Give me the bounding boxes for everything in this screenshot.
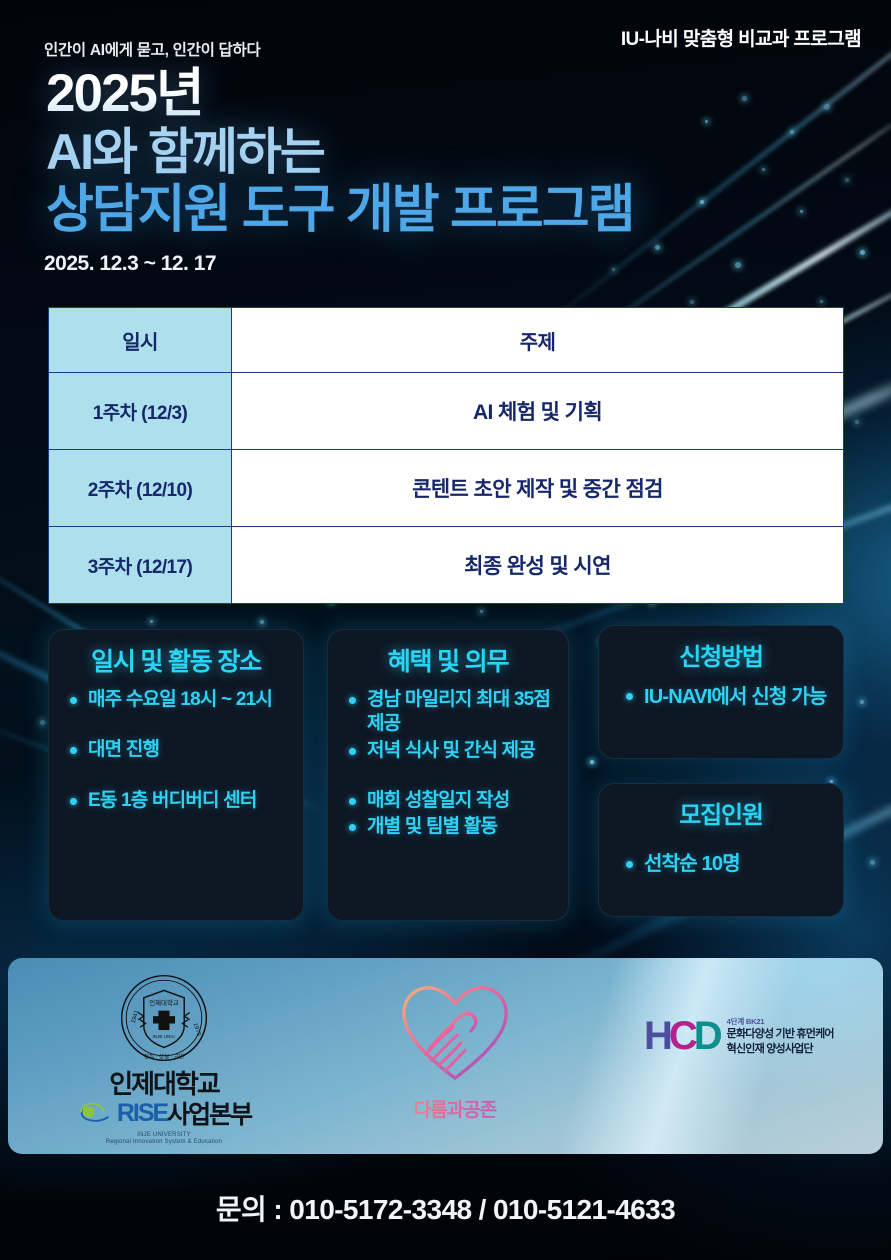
hcd-letter-h: H xyxy=(644,1016,669,1056)
svg-text:1941: 1941 xyxy=(131,1009,141,1024)
table-row: 3주차 (12/17) 최종 완성 및 시연 xyxy=(49,527,844,604)
card-title-benefit: 혜택 및 의무 xyxy=(327,629,569,684)
grise-tail-text: 사업본부 xyxy=(167,1095,251,1131)
svg-text:1979: 1979 xyxy=(192,1022,202,1037)
svg-text:정직 · 성실 · 근면: 정직 · 성실 · 근면 xyxy=(144,1052,184,1060)
cell-topic: 콘텐트 초안 제작 및 중간 점검 xyxy=(232,450,844,527)
heart-handshake-icon xyxy=(396,976,514,1088)
bokeh-dot xyxy=(260,620,264,624)
info-card-place: 일시 및 활동 장소 매주 수요일 18시 ~ 21시 대면 진행 E동 1층 … xyxy=(48,629,304,921)
table-row: 2주차 (12/10) 콘텐트 초안 제작 및 중간 점검 xyxy=(49,450,844,527)
list-item: 매주 수요일 18시 ~ 21시 xyxy=(68,688,290,712)
card-list-place: 매주 수요일 18시 ~ 21시 대면 진행 E동 1층 버디버디 센터 xyxy=(48,684,304,831)
grise-logo: RISE 사업본부 xyxy=(60,1095,268,1131)
list-item: IU-NAVI에서 신청 가능 xyxy=(624,684,832,710)
list-item: 경남 마일리지 최대 35점 제공 xyxy=(347,688,555,737)
sponsor-logo-panel: 인제대학교 INJE UNIV. 1941 1979 정직 · 성실 · 근면 … xyxy=(8,958,883,1154)
list-item: 대면 진행 xyxy=(68,738,290,762)
title-line-two: AI와 함께하는 xyxy=(46,126,861,179)
hcd-letters: H C D xyxy=(644,1016,719,1056)
coexistence-caption: 다름과공존 xyxy=(380,1095,530,1122)
info-cards: 일시 및 활동 장소 매주 수요일 18시 ~ 21시 대면 진행 E동 1층 … xyxy=(0,625,891,925)
page-title: 2025년 AI와 함께하는 상담지원 도구 개발 프로그램 xyxy=(46,66,861,238)
svg-text:INJE UNIV.: INJE UNIV. xyxy=(152,1034,175,1039)
program-category-tag: IU-나비 맞춤형 비교과 프로그램 xyxy=(621,24,861,51)
card-list-quota: 선착순 10명 xyxy=(598,836,844,894)
bokeh-dot xyxy=(820,300,823,303)
list-item: E동 1층 버디버디 센터 xyxy=(68,789,290,813)
cell-when: 3주차 (12/17) xyxy=(49,527,232,604)
cell-topic: 최종 완성 및 시연 xyxy=(232,527,844,604)
card-list-benefit: 경남 마일리지 최대 35점 제공 저녁 식사 및 간식 제공 매회 성찰일지 … xyxy=(327,684,569,852)
hcd-letter-d: D xyxy=(694,1016,719,1056)
logo-row: 인제대학교 INJE UNIV. 1941 1979 정직 · 성실 · 근면 … xyxy=(8,958,883,1154)
contact-info: 문의 : 010-5172-3348 / 010-5121-4633 xyxy=(0,1188,891,1228)
hcd-text-block: 4단계 BK21 문화다양성 기반 휴먼케어 혁신인재 양성사업단 xyxy=(727,1016,834,1057)
column-header-topic: 주제 xyxy=(232,308,844,373)
hcd-bk21-label: 4단계 BK21 xyxy=(727,1016,834,1027)
cell-topic: AI 체험 및 기획 xyxy=(232,373,844,450)
schedule-table: 일시 주제 1주차 (12/3) AI 체험 및 기획 2주차 (12/10) … xyxy=(48,307,844,604)
svg-text:인제대학교: 인제대학교 xyxy=(149,998,179,1007)
card-title-place: 일시 및 활동 장소 xyxy=(48,629,304,684)
inje-eng-bottom: Regional Innovation System & Education xyxy=(60,1139,268,1145)
list-item: 매회 성찰일지 작성 xyxy=(347,789,555,813)
logo-inje-university: 인제대학교 INJE UNIV. 1941 1979 정직 · 성실 · 근면 … xyxy=(60,972,268,1145)
title-line-three: 상담지원 도구 개발 프로그램 xyxy=(46,183,861,238)
card-list-apply: IU-NAVI에서 신청 가능 xyxy=(598,678,844,726)
bokeh-dot xyxy=(690,300,694,304)
grise-rise-text: RISE xyxy=(117,1101,167,1126)
list-item: 개별 및 팀별 활동 xyxy=(347,815,555,839)
inje-eng-top: INJE UNIVERSITY xyxy=(60,1132,268,1138)
grise-swirl-icon xyxy=(77,1100,117,1126)
list-item: 저녁 식사 및 간식 제공 xyxy=(347,739,555,763)
bokeh-dot xyxy=(855,420,859,424)
cell-when: 1주차 (12/3) xyxy=(49,373,232,450)
hcd-letter-c: C xyxy=(669,1016,694,1056)
title-line-year: 2025년 xyxy=(46,66,861,122)
info-card-quota: 모집인원 선착순 10명 xyxy=(598,783,844,917)
info-card-benefit: 혜택 및 의무 경남 마일리지 최대 35점 제공 저녁 식사 및 간식 제공 … xyxy=(327,629,569,921)
inje-name-text: 인제대학교 xyxy=(60,1071,268,1097)
column-header-when: 일시 xyxy=(49,308,232,373)
inje-emblem-icon: 인제대학교 INJE UNIV. 1941 1979 정직 · 성실 · 근면 xyxy=(118,972,210,1064)
bokeh-dot xyxy=(150,620,153,623)
hcd-line-2: 혁신인재 양성사업단 xyxy=(727,1042,834,1057)
hcd-line-1: 문화다양성 기반 휴먼케어 xyxy=(727,1027,834,1042)
cell-when: 2주차 (12/10) xyxy=(49,450,232,527)
card-title-quota: 모집인원 xyxy=(598,783,844,836)
table-row: 1주차 (12/3) AI 체험 및 기획 xyxy=(49,373,844,450)
bokeh-dot xyxy=(480,610,483,613)
list-item: 선착순 10명 xyxy=(624,852,832,878)
tagline: 인간이 AI에게 묻고, 인간이 답하다 xyxy=(44,38,260,60)
poster-root: 인간이 AI에게 묻고, 인간이 답하다 IU-나비 맞춤형 비교과 프로그램 … xyxy=(0,0,891,1260)
info-card-apply: 신청방법 IU-NAVI에서 신청 가능 xyxy=(598,625,844,759)
poster-header: 인간이 AI에게 묻고, 인간이 답하다 IU-나비 맞춤형 비교과 프로그램 … xyxy=(0,0,891,276)
logo-hcd: H C D 4단계 BK21 문화다양성 기반 휴먼케어 혁신인재 양성사업단 xyxy=(644,1016,854,1057)
table-header-row: 일시 주제 xyxy=(49,308,844,373)
card-title-apply: 신청방법 xyxy=(598,625,844,678)
date-range: 2025. 12.3 ~ 12. 17 xyxy=(44,252,861,276)
logo-coexistence: 다름과공존 xyxy=(380,976,530,1122)
